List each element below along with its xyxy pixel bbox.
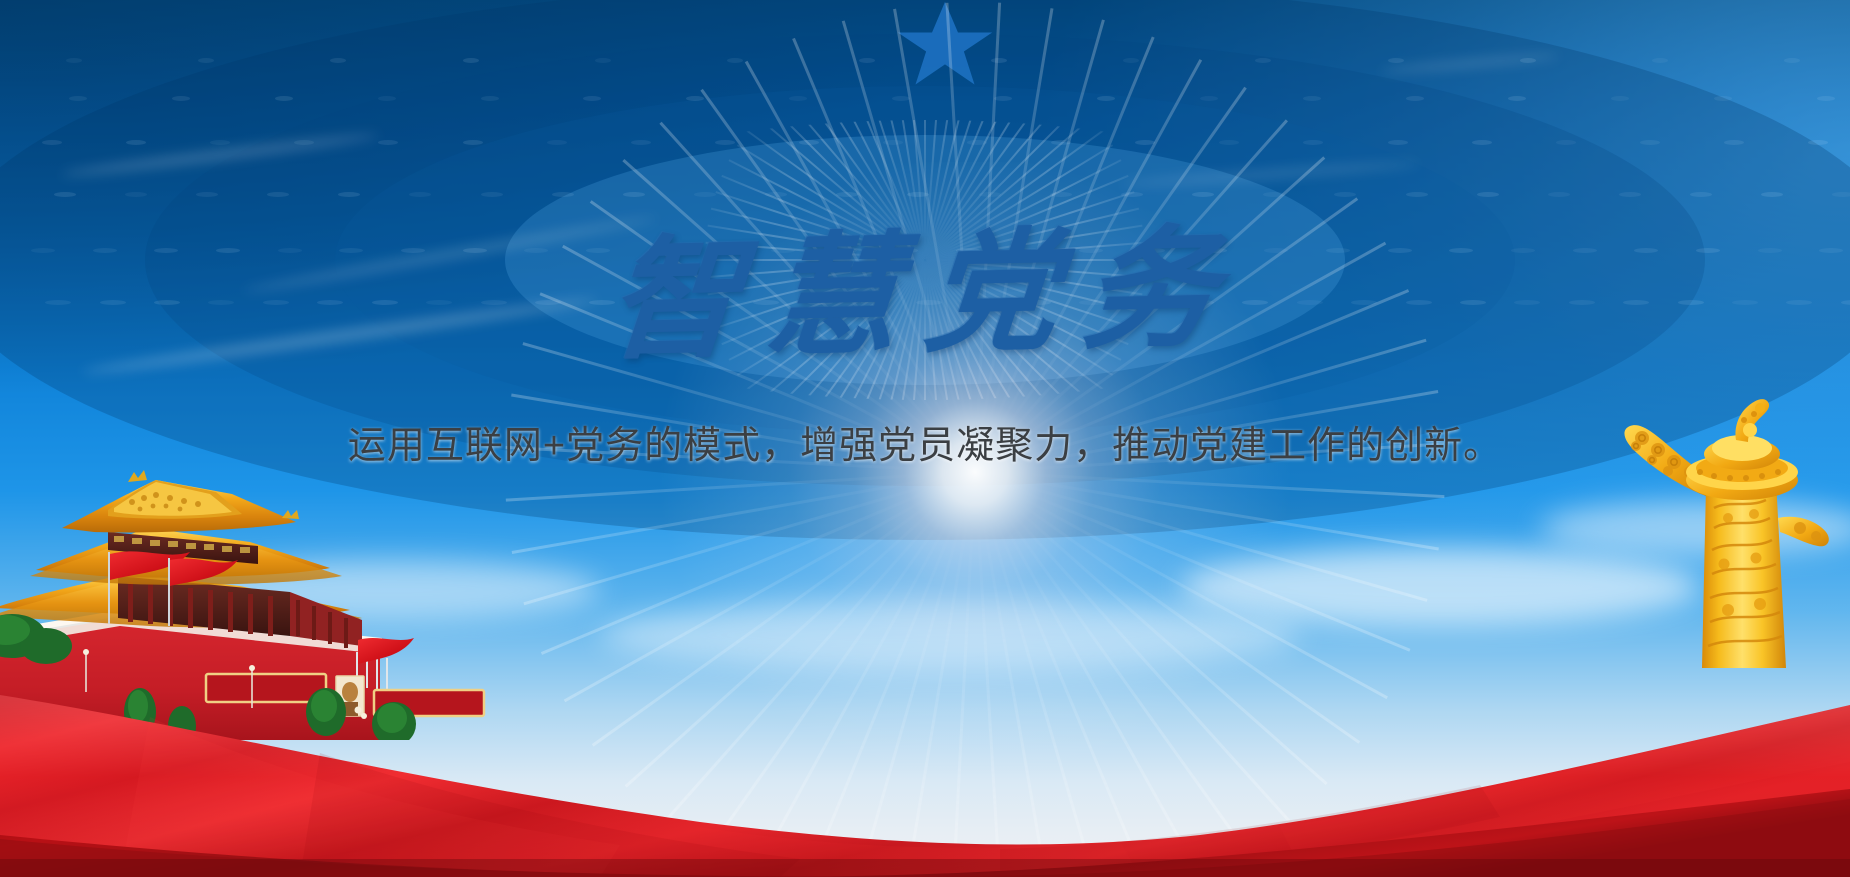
title-container: 智慧党务 xyxy=(0,226,1850,365)
banner-title: 智慧党务 xyxy=(603,219,1248,371)
red-silk-ribbon xyxy=(0,577,1850,877)
banner-subtitle: 运用互联网+党务的模式，增强党员凝聚力，推动党建工作的创新。 xyxy=(348,414,1502,469)
hero-banner: 智慧党务 运用互联网+党务的模式，增强党员凝聚力，推动党建工作的创新。 xyxy=(0,0,1850,877)
